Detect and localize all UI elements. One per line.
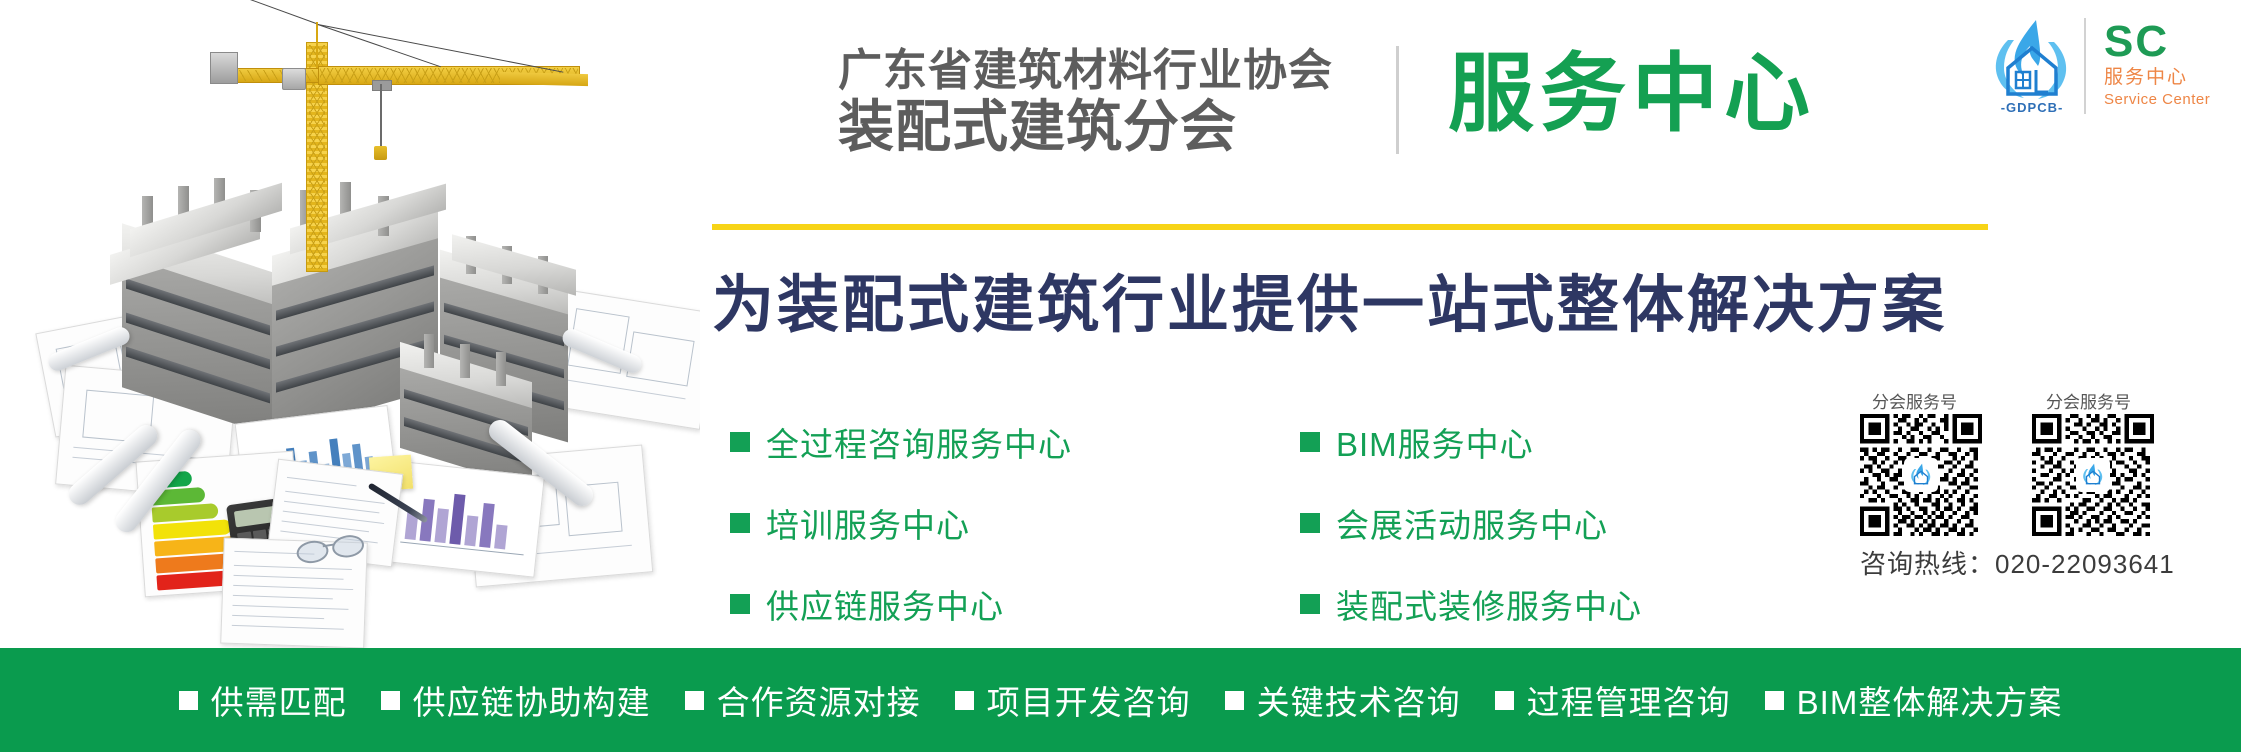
footer-label: 合作资源对接 xyxy=(717,676,921,724)
bullet-square-icon xyxy=(730,594,750,614)
service-label: 供应链服务中心 xyxy=(766,580,1004,628)
hotline-text: 咨询热线：020-22093641 xyxy=(1860,544,2175,581)
service-label: BIM服务中心 xyxy=(1336,418,1534,466)
brand-logo[interactable]: -GDPCB- SC 服务中心 Service Center xyxy=(1984,14,2232,118)
footer-label: 供应链协助构建 xyxy=(413,676,651,724)
gdpcb-house-flame-icon xyxy=(1984,14,2080,102)
qr-code-2[interactable] xyxy=(2032,414,2154,536)
bullet-square-icon xyxy=(955,691,974,710)
qr-code-1[interactable] xyxy=(1860,414,1982,536)
service-list-column-2: BIM服务中心 会展活动服务中心 装配式装修服务中心 xyxy=(1300,418,1642,661)
service-item[interactable]: BIM服务中心 xyxy=(1300,418,1642,466)
page-headline: 为装配式建筑行业提供一站式整体解决方案 xyxy=(712,254,1947,344)
service-item[interactable]: 装配式装修服务中心 xyxy=(1300,580,1642,628)
bullet-square-icon xyxy=(179,691,198,710)
gdpcb-mini-icon xyxy=(1908,462,1934,488)
org-name-line1: 广东省建筑材料行业协会 xyxy=(838,48,1333,94)
service-label: 培训服务中心 xyxy=(766,499,970,547)
qr-caption-1: 分会服务号 xyxy=(1872,388,1957,413)
sc-chinese-label: 服务中心 xyxy=(2104,68,2188,87)
qr-contact-area: 分会服务号 分会服务号 xyxy=(1860,388,2226,568)
hero-construction-image xyxy=(0,0,700,648)
footer-label: 项目开发咨询 xyxy=(987,676,1191,724)
qr-caption-2: 分会服务号 xyxy=(2046,388,2131,413)
service-item[interactable]: 培训服务中心 xyxy=(730,499,1072,547)
service-item[interactable]: 会展活动服务中心 xyxy=(1300,499,1642,547)
service-label: 会展活动服务中心 xyxy=(1336,499,1608,547)
footer-item[interactable]: 供应链协助构建 xyxy=(381,676,651,724)
bullet-square-icon xyxy=(1300,594,1320,614)
sc-english-label: Service Center xyxy=(2104,92,2210,107)
logo-divider xyxy=(2084,18,2086,114)
gdpcb-mini-icon xyxy=(2080,462,2106,488)
footer-label: 关键技术咨询 xyxy=(1257,676,1461,724)
organization-title: 广东省建筑材料行业协会 装配式建筑分会 xyxy=(838,48,1333,156)
footer-label: BIM整体解决方案 xyxy=(1797,676,2063,724)
service-label: 全过程咨询服务中心 xyxy=(766,418,1072,466)
gdpcb-mark-label: -GDPCB- xyxy=(1984,100,2080,115)
bullet-square-icon xyxy=(1300,432,1320,452)
footer-item[interactable]: BIM整体解决方案 xyxy=(1765,676,2063,724)
promotional-banner: 广东省建筑材料行业协会 装配式建筑分会 服务中心 为装配式建筑行业提供一站式整体… xyxy=(0,0,2246,752)
sc-initials: SC xyxy=(2104,20,2169,64)
footer-item[interactable]: 项目开发咨询 xyxy=(955,676,1191,724)
service-list-column-1: 全过程咨询服务中心 培训服务中心 供应链服务中心 xyxy=(730,418,1072,661)
qr-center-logo xyxy=(2076,458,2110,492)
footer-label: 供需匹配 xyxy=(211,676,347,724)
footer-service-bar: 供需匹配 供应链协助构建 合作资源对接 项目开发咨询 关键技术咨询 过程管理咨询… xyxy=(0,648,2241,752)
org-name-line2: 装配式建筑分会 xyxy=(838,98,1333,156)
service-item[interactable]: 全过程咨询服务中心 xyxy=(730,418,1072,466)
service-item[interactable]: 供应链服务中心 xyxy=(730,580,1072,628)
footer-label: 过程管理咨询 xyxy=(1527,676,1731,724)
qr-center-logo xyxy=(1904,458,1938,492)
bullet-square-icon xyxy=(730,513,750,533)
bullet-square-icon xyxy=(1300,513,1320,533)
footer-item[interactable]: 过程管理咨询 xyxy=(1495,676,1731,724)
service-center-title: 服务中心 xyxy=(1448,48,1816,141)
footer-item[interactable]: 供需匹配 xyxy=(179,676,347,724)
yellow-divider xyxy=(712,224,1988,230)
bullet-square-icon xyxy=(730,432,750,452)
bullet-square-icon xyxy=(1225,691,1244,710)
title-vertical-divider xyxy=(1396,46,1399,154)
footer-item[interactable]: 关键技术咨询 xyxy=(1225,676,1461,724)
service-label: 装配式装修服务中心 xyxy=(1336,580,1642,628)
bullet-square-icon xyxy=(685,691,704,710)
bullet-square-icon xyxy=(1765,691,1784,710)
bullet-square-icon xyxy=(381,691,400,710)
bullet-square-icon xyxy=(1495,691,1514,710)
footer-item[interactable]: 合作资源对接 xyxy=(685,676,921,724)
